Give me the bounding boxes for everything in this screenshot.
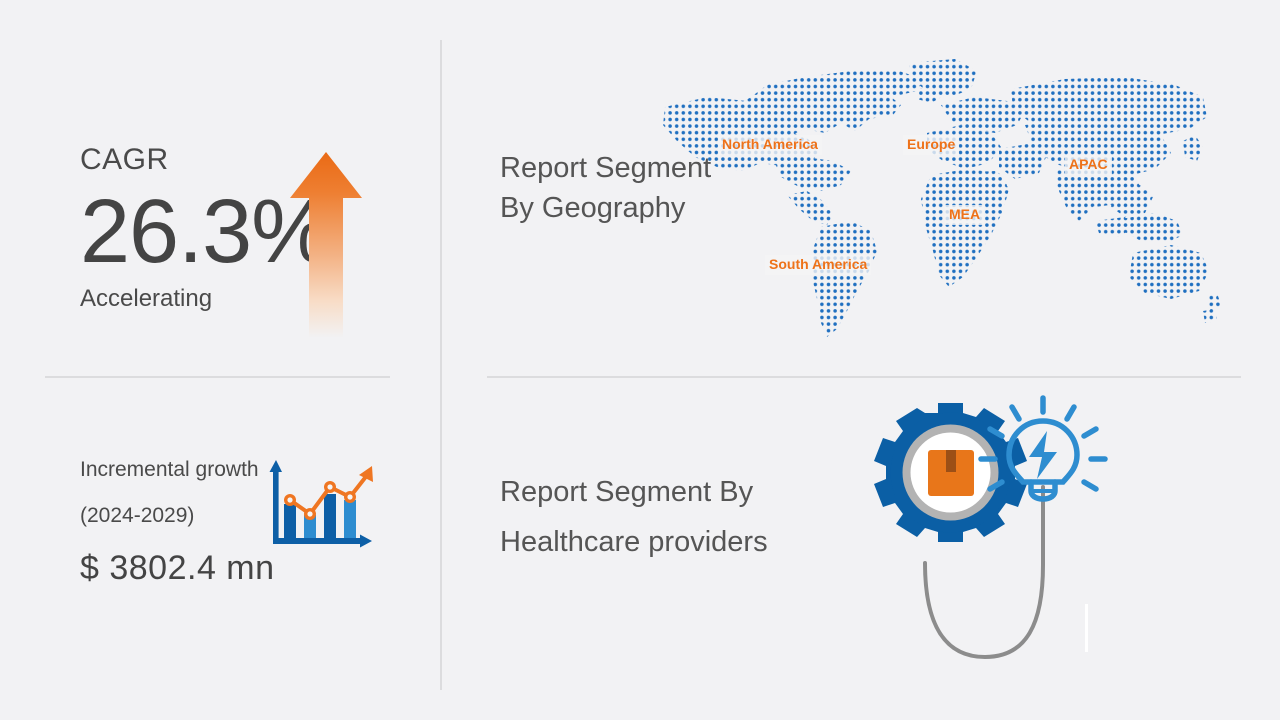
healthcare-providers-heading: Report Segment By Healthcare providers	[500, 468, 850, 568]
incremental-growth-title: Incremental growth	[80, 455, 280, 485]
vertical-divider	[440, 40, 442, 690]
slide-canvas: CAGR 26.3% Accelerating Incremental grow…	[0, 0, 1280, 720]
incremental-growth-block: Incremental growth (2024-2029) $ 3802.4 …	[80, 455, 280, 587]
map-region-label-north-america: North America	[718, 135, 822, 155]
up-arrow-gradient-icon	[288, 150, 364, 340]
map-region-label-apac: APAC	[1065, 155, 1112, 175]
map-region-label-europe: Europe	[903, 135, 959, 155]
horizontal-divider-left	[45, 376, 390, 378]
map-region-label-south-america: South America	[765, 255, 871, 275]
incremental-growth-value: $ 3802.4 mn	[80, 550, 280, 587]
map-region-label-mea: MEA	[945, 205, 984, 225]
dotted-world-map	[655, 45, 1220, 345]
horizontal-divider-right	[487, 376, 1241, 378]
gear-shape	[874, 403, 1027, 542]
bar-line-growth-chart-icon	[260, 452, 378, 556]
incremental-growth-period: (2024-2029)	[80, 505, 280, 526]
gear-cable-lightbulb-icon	[845, 395, 1115, 670]
